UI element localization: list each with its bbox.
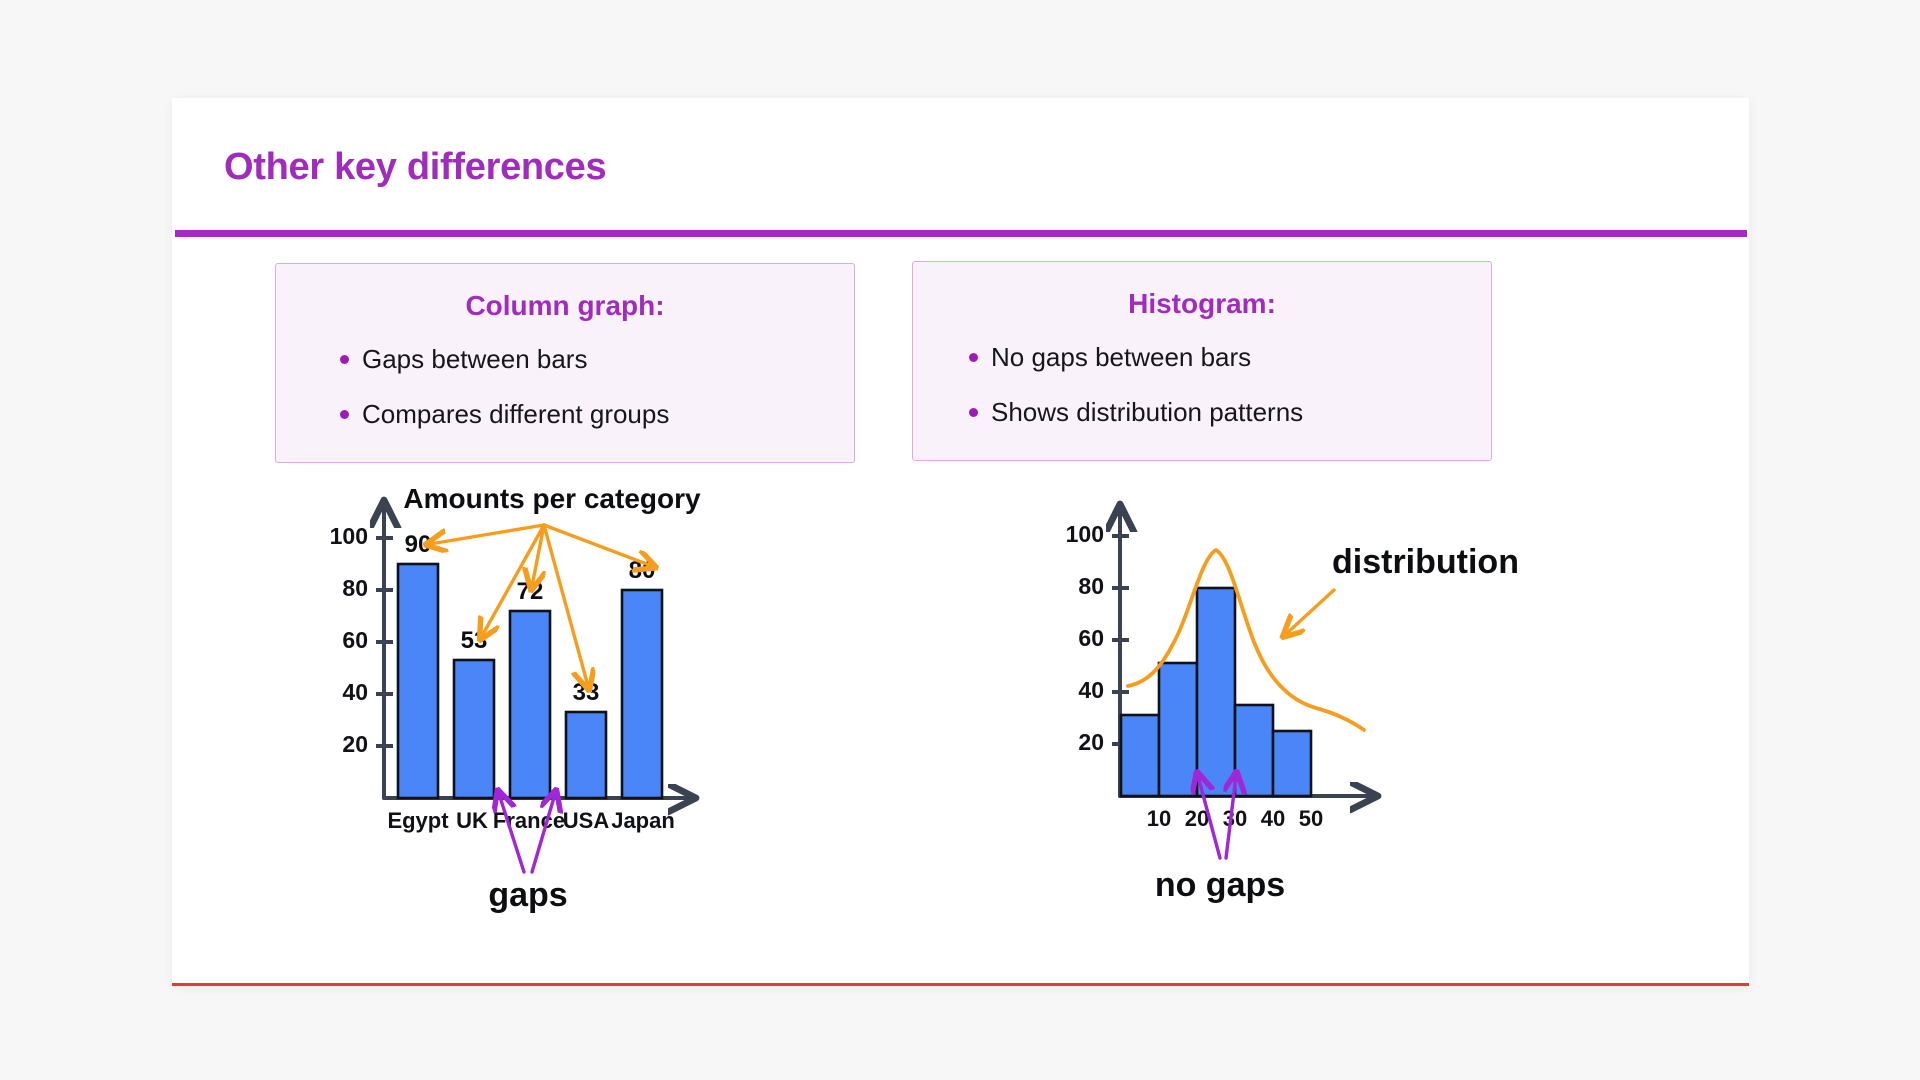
histogram-heading: Histogram: [913,288,1491,320]
x-tick-label: 40 [1261,806,1285,831]
bullet-dot-icon [340,355,349,364]
x-tick-label: 10 [1147,806,1171,831]
y-tick-label: 80 [1078,573,1104,599]
list-item: No gaps between bars [913,342,1491,373]
y-tick-label: 40 [1078,677,1104,703]
histogram-bin-3 [1197,588,1235,796]
category-label: Egypt [387,808,449,833]
title-divider [175,230,1747,237]
y-tick-label: 20 [1078,729,1104,755]
histogram-svg: 20 40 60 80 100 10 20 30 4 [872,438,1552,918]
list-item-label: Shows distribution patterns [991,397,1303,428]
column-graph-heading: Column graph: [276,290,854,322]
bar-usa [566,712,606,798]
column-graph-bullet-list: Gaps between bars Compares different gro… [276,344,854,430]
histogram-figure: 20 40 60 80 100 10 20 30 4 [872,438,1552,918]
bar-japan [622,590,662,798]
page-title: Other key differences [224,146,606,189]
slide-card: Other key differences Column graph: Gaps… [172,98,1749,986]
list-item: Gaps between bars [276,344,854,375]
column-graph-info-box: Column graph: Gaps between bars Compares… [275,263,855,463]
category-label: USA [563,808,610,833]
y-tick-label: 80 [342,575,368,601]
histogram-bin-2 [1159,663,1197,796]
distribution-callout: distribution [1286,543,1519,634]
histogram-bin-1 [1121,715,1159,796]
histogram-bin-5 [1273,731,1311,796]
histogram-bars [1121,588,1311,796]
bar-egypt [398,564,438,798]
y-tick-label: 40 [342,679,368,705]
y-tick-label: 100 [330,523,368,549]
category-label: Japan [611,808,675,833]
histogram-info-box: Histogram: No gaps between bars Shows di… [912,261,1492,461]
no-gaps-annotation-label: no gaps [1155,866,1285,904]
gaps-annotation-label: gaps [488,876,567,914]
y-tick-label: 100 [1066,521,1104,547]
bar-value-label: 72 [517,578,544,605]
list-item: Compares different groups [276,399,854,430]
histogram-bullet-list: No gaps between bars Shows distribution … [913,342,1491,428]
bullet-dot-icon [969,408,978,417]
category-label: UK [456,808,488,833]
y-tick-label: 60 [342,627,368,653]
bar-france [510,611,550,798]
distribution-annotation-label: distribution [1332,543,1519,581]
list-item: Shows distribution patterns [913,397,1491,428]
bullet-dot-icon [969,353,978,362]
bottom-accent-rule [172,983,1749,986]
histogram-bin-4 [1235,705,1273,796]
column-graph-svg: Amounts per category 20 40 60 80 100 [252,468,892,918]
list-item-label: No gaps between bars [991,342,1251,373]
x-tick-label: 50 [1299,806,1323,831]
y-tick-label: 20 [342,731,368,757]
y-tick-label: 60 [1078,625,1104,651]
bar-value-label: 90 [405,531,432,558]
x-tick-label: 30 [1223,806,1247,831]
bar-uk [454,660,494,798]
column-graph-title: Amounts per category [403,483,701,514]
list-item-label: Compares different groups [362,399,669,430]
bullet-dot-icon [340,410,349,419]
column-graph-figure: Amounts per category 20 40 60 80 100 [252,468,892,918]
list-item-label: Gaps between bars [362,344,587,375]
